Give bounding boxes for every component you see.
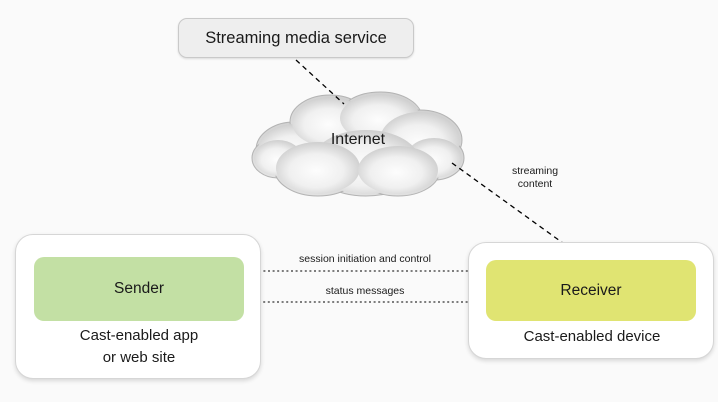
streaming-content-label-line2: content bbox=[492, 178, 578, 191]
internet-cloud: Internet bbox=[248, 88, 468, 200]
session-initiation-label: session initiation and control bbox=[265, 253, 465, 265]
internet-cloud-label: Internet bbox=[248, 131, 468, 149]
sender-caption-line2: or web site bbox=[16, 347, 262, 369]
sender-caption-line1: Cast-enabled app bbox=[16, 325, 262, 347]
sender-caption: Cast-enabled app or web site bbox=[16, 325, 262, 369]
sender-box-label: Sender bbox=[114, 280, 164, 298]
streaming-media-service-box: Streaming media service bbox=[178, 18, 414, 58]
streaming-content-label-line1: streaming bbox=[492, 165, 578, 178]
status-messages-label: status messages bbox=[272, 285, 458, 297]
receiver-device-container: Receiver Cast-enabled device bbox=[468, 242, 714, 359]
receiver-caption: Cast-enabled device bbox=[469, 326, 715, 348]
sender-device-container: Sender Cast-enabled app or web site bbox=[15, 234, 261, 379]
diagram-canvas: Streaming media service bbox=[0, 0, 718, 402]
receiver-box: Receiver bbox=[486, 260, 696, 321]
receiver-box-label: Receiver bbox=[560, 282, 621, 300]
sender-box: Sender bbox=[34, 257, 244, 321]
streaming-media-service-label: Streaming media service bbox=[205, 29, 387, 48]
streaming-content-label: streaming content bbox=[492, 165, 578, 191]
